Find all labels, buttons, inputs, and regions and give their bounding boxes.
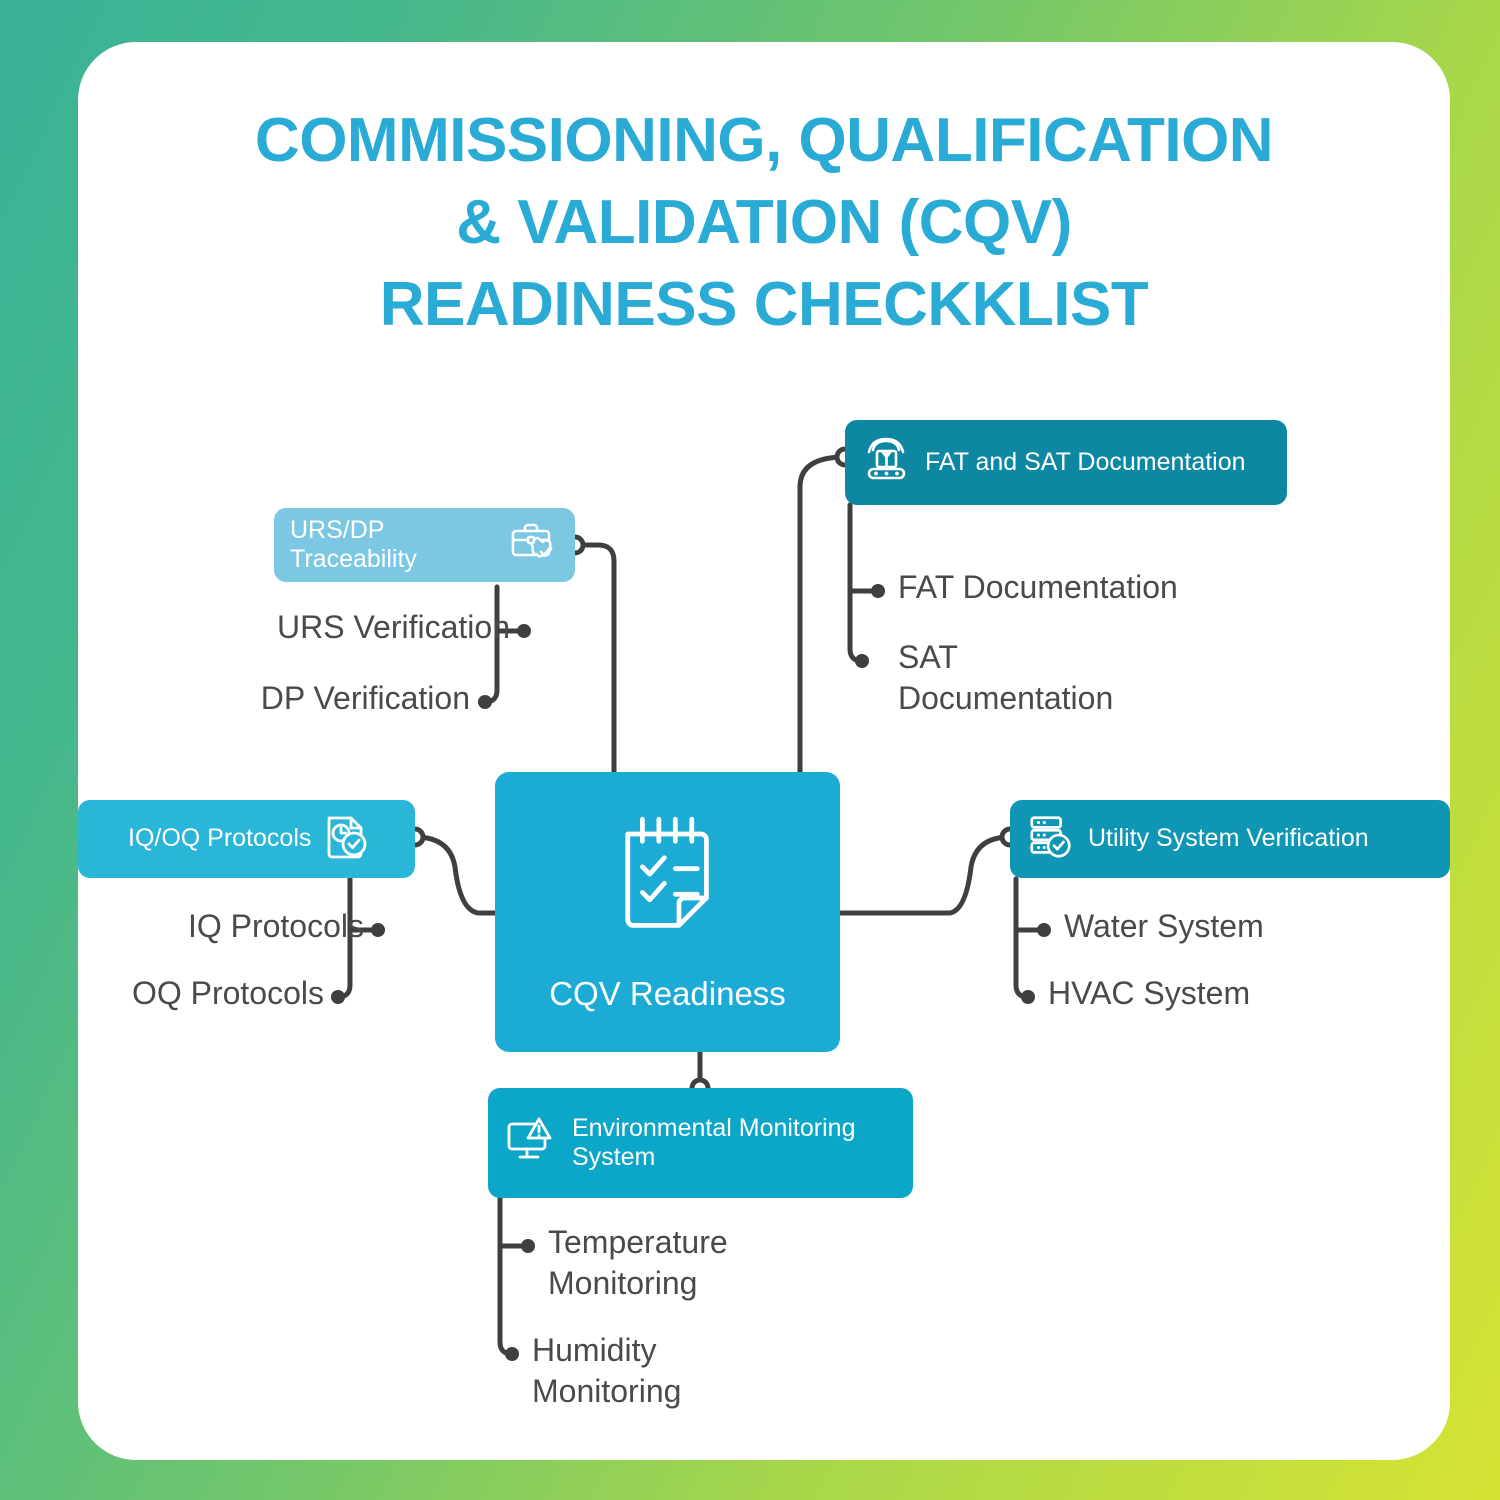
center-node-label: CQV Readiness: [549, 975, 786, 1013]
briefcase-badge-check-icon: [509, 520, 559, 571]
leaf-dot-utility-1: [1037, 923, 1051, 937]
sub-item-temperature-monitoring: Temperature Monitoring: [548, 1222, 868, 1304]
wire-env-stem: [500, 1198, 512, 1354]
wire-urs-to-hub: [575, 545, 614, 772]
branch-label-urs-dp-traceability: URS/DP Traceability: [290, 516, 499, 575]
sub-item-iq-protocols: IQ Protocols: [78, 906, 364, 947]
wire-utility-stem: [1016, 879, 1028, 997]
server-rack-check-icon: [1026, 812, 1076, 867]
checklist-notepad-icon: [609, 812, 727, 945]
sub-item-dp-verification: DP Verification: [184, 678, 470, 719]
branch-node-fat-sat-documentation[interactable]: FAT and SAT Documentation: [845, 420, 1287, 505]
leaf-dot-iqoq-1: [371, 923, 385, 937]
content-card: COMMISSIONING, QUALIFICATION & VALIDATIO…: [78, 42, 1450, 1460]
mindmap-diagram: CQV Readiness URS/DP Traceability: [78, 42, 1450, 1460]
document-clock-check-icon: [321, 811, 373, 868]
sub-item-oq-protocols: OQ Protocols: [78, 973, 324, 1014]
leaf-dot-fat-1: [871, 584, 885, 598]
branch-label-environmental-monitoring-system: Environmental Monitoring System: [572, 1114, 855, 1173]
wire-fat-to-hub: [800, 457, 845, 772]
sub-item-humidity-monitoring: Humidity Monitoring: [532, 1330, 852, 1412]
leaf-dot-urs-1: [517, 624, 531, 638]
branch-node-urs-dp-traceability[interactable]: URS/DP Traceability: [274, 508, 575, 582]
center-node-cqv-readiness[interactable]: CQV Readiness: [495, 772, 840, 1052]
leaf-dot-env-1: [521, 1239, 535, 1253]
monitor-warning-icon: [504, 1116, 560, 1171]
leaf-dot-urs-2: [478, 695, 492, 709]
wire-iqoq-to-hub: [415, 837, 495, 913]
leaf-dot-iqoq-2: [331, 990, 345, 1004]
branch-label-utility-system-verification: Utility System Verification: [1088, 824, 1369, 854]
leaf-dot-fat-2: [855, 654, 869, 668]
sub-item-sat-documentation: SAT Documentation: [898, 637, 1228, 719]
leaf-dot-utility-2: [1021, 990, 1035, 1004]
sub-item-water-system: Water System: [1064, 906, 1424, 947]
wire-utility-to-hub: [840, 837, 1010, 913]
branch-label-iq-oq-protocols: IQ/OQ Protocols: [128, 824, 311, 854]
branch-node-utility-system-verification[interactable]: Utility System Verification: [1010, 800, 1450, 878]
branch-label-fat-sat-documentation: FAT and SAT Documentation: [925, 448, 1246, 478]
branch-node-environmental-monitoring-system[interactable]: Environmental Monitoring System: [488, 1088, 913, 1198]
leaf-dot-env-2: [505, 1347, 519, 1361]
sub-item-urs-verification: URS Verification: [184, 607, 510, 648]
conveyor-belt-package-icon: [861, 434, 913, 491]
sub-item-fat-documentation: FAT Documentation: [898, 567, 1298, 608]
branch-node-iq-oq-protocols[interactable]: IQ/OQ Protocols: [78, 800, 415, 878]
wire-fat-stem: [850, 505, 862, 661]
sub-item-hvac-system: HVAC System: [1048, 973, 1408, 1014]
